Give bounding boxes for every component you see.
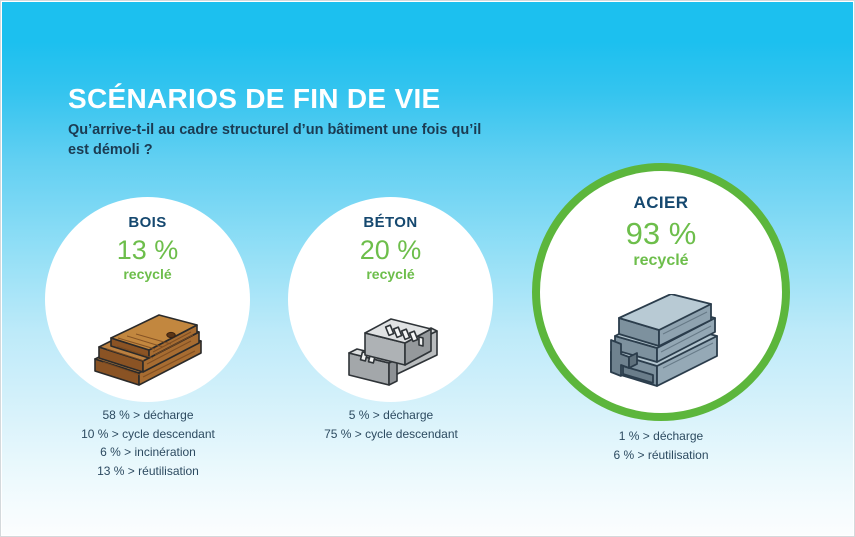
page-title: SCÉNARIOS DE FIN DE VIE <box>68 84 588 113</box>
steel-beams-icon <box>597 294 725 390</box>
breakdown-item: 1 % > décharge <box>536 427 786 446</box>
material-disc-content-bois: BOIS 13 % recyclé <box>45 215 250 282</box>
material-group-beton: BÉTON 20 % recyclé <box>288 197 493 487</box>
concrete-blocks-icon-wrap <box>288 305 493 387</box>
material-percent-acier: 93 % <box>532 217 790 251</box>
material-percent-bois: 13 % <box>45 236 250 266</box>
header: SCÉNARIOS DE FIN DE VIE Qu’arrive-t-il a… <box>68 84 588 161</box>
material-disc-content-acier: ACIER 93 % recyclé <box>532 194 790 270</box>
breakdown-item: 75 % > cycle descendant <box>266 425 516 444</box>
material-name-acier: ACIER <box>532 194 790 211</box>
breakdown-item: 13 % > réutilisation <box>23 462 273 481</box>
material-percent-beton: 20 % <box>288 236 493 266</box>
breakdown-item: 6 % > incinération <box>23 443 273 462</box>
material-name-bois: BOIS <box>45 215 250 230</box>
breakdown-item: 10 % > cycle descendant <box>23 425 273 444</box>
page-subtitle: Qu’arrive-t-il au cadre structurel d’un … <box>68 121 498 160</box>
breakdown-bois: 58 % > décharge 10 % > cycle descendant … <box>23 406 273 480</box>
material-name-beton: BÉTON <box>288 215 493 230</box>
wood-planks-icon-wrap <box>45 309 250 387</box>
material-recycled-label-acier: recyclé <box>532 252 790 270</box>
material-recycled-label-beton: recyclé <box>288 267 493 282</box>
material-group-acier: ACIER 93 % recyclé <box>532 163 790 483</box>
steel-beams-icon-wrap <box>532 290 790 390</box>
concrete-blocks-icon <box>335 309 447 387</box>
breakdown-item: 58 % > décharge <box>23 406 273 425</box>
breakdown-item: 5 % > décharge <box>266 406 516 425</box>
wood-planks-icon <box>87 313 209 387</box>
infographic-canvas: SCÉNARIOS DE FIN DE VIE Qu’arrive-t-il a… <box>0 0 855 537</box>
material-recycled-label-bois: recyclé <box>45 267 250 282</box>
material-disc-content-beton: BÉTON 20 % recyclé <box>288 215 493 282</box>
breakdown-item: 6 % > réutilisation <box>536 446 786 465</box>
material-group-bois: BOIS 13 % recyclé <box>45 197 250 487</box>
breakdown-acier: 1 % > décharge 6 % > réutilisation <box>536 427 786 464</box>
breakdown-beton: 5 % > décharge 75 % > cycle descendant <box>266 406 516 443</box>
